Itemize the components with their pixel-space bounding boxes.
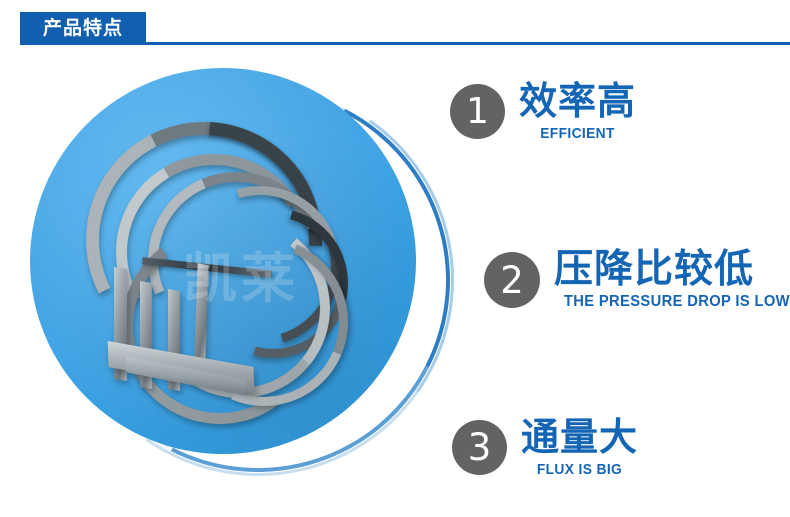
feature-item-1: 1 效率高 EFFICIENT	[450, 82, 636, 142]
feature-title-3: 通量大	[521, 418, 638, 457]
metal-fin-4	[194, 263, 208, 361]
section-title-label: 产品特点	[43, 19, 123, 38]
saddle-ring-packing-illustration	[30, 68, 416, 454]
feature-number-badge-1: 1	[450, 84, 505, 139]
metal-band-3	[121, 145, 350, 374]
section-title-tab: 产品特点	[20, 12, 146, 45]
metal-band-5	[171, 181, 376, 386]
metal-fin-1	[114, 267, 127, 381]
feature-title-2: 压降比较低	[554, 250, 790, 290]
feature-text-group-1: 效率高 EFFICIENT	[519, 82, 636, 142]
feature-subtitle-2: THE PRESSURE DROP IS LOW	[564, 293, 790, 311]
metal-band-6	[141, 209, 339, 407]
metal-fin-2	[140, 281, 152, 389]
feature-item-3: 3 通量大 FLUX IS BIG	[452, 418, 638, 478]
metal-cross-strut	[142, 257, 272, 278]
feature-text-group-2: 压降比较低 THE PRESSURE DROP IS LOW	[554, 250, 790, 311]
metal-band-1b	[37, 73, 370, 406]
feature-number-badge-2: 2	[484, 252, 540, 308]
metal-band-4	[152, 158, 368, 374]
metal-band-2	[95, 133, 333, 371]
metal-band-1	[55, 91, 352, 388]
feature-number-badge-3: 3	[452, 420, 507, 475]
feature-subtitle-1: EFFICIENT	[524, 125, 632, 142]
header-divider-line	[146, 42, 790, 45]
metal-fin-3	[168, 289, 180, 391]
feature-title-1: 效率高	[519, 82, 636, 121]
product-features-banner: 产品特点	[0, 0, 790, 517]
section-header: 产品特点	[0, 0, 790, 60]
photo-watermark: 凯莱	[126, 198, 356, 348]
metal-base-plate	[108, 341, 255, 393]
metal-band-8	[155, 213, 374, 432]
feature-item-2: 2 压降比较低 THE PRESSURE DROP IS LOW	[484, 250, 790, 311]
product-photo-circle: 凯莱	[30, 68, 416, 454]
metal-band-7	[109, 215, 330, 436]
feature-subtitle-3: FLUX IS BIG	[526, 461, 634, 478]
feature-list: 1 效率高 EFFICIENT 2 压降比较低 THE PRESSURE DRO…	[440, 58, 790, 508]
product-photo: 凯莱	[22, 58, 442, 506]
metal-base-plate-lower	[126, 356, 246, 396]
feature-text-group-3: 通量大 FLUX IS BIG	[521, 418, 638, 478]
